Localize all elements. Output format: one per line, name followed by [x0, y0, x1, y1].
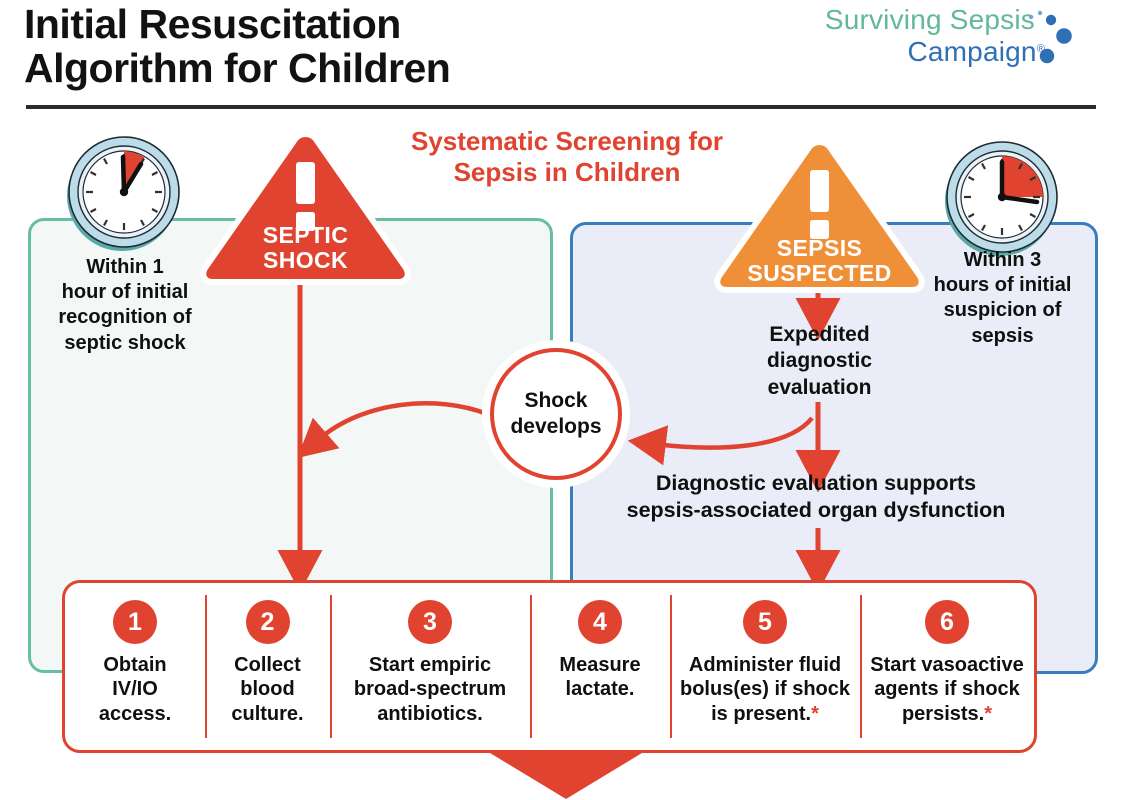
step-4-text: Measure lactate. — [559, 653, 640, 702]
section-heading: Systematic Screening for Sepsis in Child… — [372, 126, 762, 187]
clock-3-hours-caption: Within 3 hours of initial suspicion of s… — [915, 248, 1090, 349]
clock-1-hour-caption: Within 1 hour of initial recognition of … — [34, 255, 216, 356]
down-triangle-icon — [490, 753, 642, 799]
brand-logo: Surviving Sepsis Campaign® — [769, 4, 1079, 96]
diagram-canvas: Initial Resuscitation Algorithm for Chil… — [0, 0, 1125, 800]
step-5: 5 Administer fluid bolus(es) if shock is… — [670, 583, 860, 750]
step-1-number: 1 — [113, 600, 157, 644]
shock-develops-label: Shock develops — [490, 348, 622, 480]
resuscitation-steps-bar: 1 Obtain IV/IO access. 2 Collect blood c… — [62, 580, 1037, 753]
step-6: 6 Start vasoactive agents if shock persi… — [860, 583, 1034, 750]
step-6-text: Start vasoactive agents if shock persist… — [870, 653, 1023, 726]
sepsis-suspected-alert-label: SEPSIS SUSPECTED — [712, 236, 927, 286]
step-4-number: 4 — [578, 600, 622, 644]
expedited-diagnostic-evaluation-text: Expedited diagnostic evaluation — [722, 322, 917, 401]
step-5-asterisk: * — [811, 703, 819, 725]
step-2-text: Collect blood culture. — [231, 653, 303, 726]
step-2-number: 2 — [246, 600, 290, 644]
swoosh-dots-icon — [1023, 8, 1079, 86]
step-3-text: Start empiric broad-spectrum antibiotics… — [354, 653, 506, 726]
step-2: 2 Collect blood culture. — [205, 583, 330, 750]
step-5-text: Administer fluid bolus(es) if shock is p… — [680, 653, 850, 726]
page-title: Initial Resuscitation Algorithm for Chil… — [24, 2, 664, 91]
clock-icon-1-hour — [63, 133, 185, 255]
step-3: 3 Start empiric broad-spectrum antibioti… — [330, 583, 530, 750]
step-1: 1 Obtain IV/IO access. — [65, 583, 205, 750]
step-4: 4 Measure lactate. — [530, 583, 670, 750]
step-3-number: 3 — [408, 600, 452, 644]
septic-shock-alert: SEPTIC SHOCK — [198, 128, 413, 288]
clock-icon-3-hours — [941, 138, 1063, 260]
step-5-number: 5 — [743, 600, 787, 644]
step-6-asterisk: * — [984, 703, 992, 725]
shock-develops-node: Shock develops — [490, 348, 622, 480]
header-divider — [26, 105, 1096, 109]
diagnostic-supports-text: Diagnostic evaluation supports sepsis-as… — [596, 470, 1036, 524]
step-1-text: Obtain IV/IO access. — [99, 653, 171, 726]
sepsis-suspected-alert: SEPSIS SUSPECTED — [712, 136, 927, 296]
septic-shock-alert-label: SEPTIC SHOCK — [198, 223, 413, 273]
step-6-number: 6 — [925, 600, 969, 644]
